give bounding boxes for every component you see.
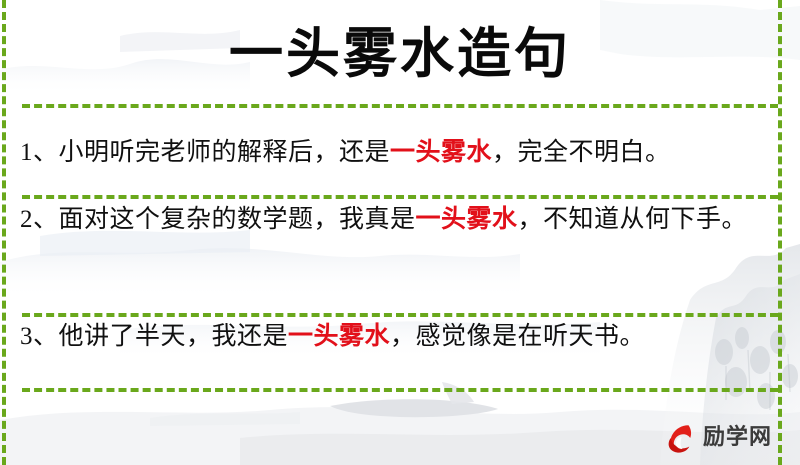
separator-below-title (22, 104, 778, 108)
sentence-text-before: 他讲了半天，我还是 (59, 323, 289, 350)
list-item: 1、小明听完老师的解释后，还是一头雾水，完全不明白。 (18, 130, 778, 175)
flame-swirl-icon (663, 421, 697, 455)
page-title: 一头雾水造句 (0, 18, 800, 88)
idiom-highlight: 一头雾水 (288, 323, 390, 350)
sentence-text-before: 面对这个复杂的数学题，我真是 (59, 206, 416, 233)
sentence-text-after: ，完全不明白。 (492, 139, 671, 166)
sentence-index: 3、 (20, 323, 59, 350)
sentence-index: 2、 (20, 206, 59, 233)
separator-after-sentence-3 (22, 388, 778, 392)
list-item: 3、他讲了半天，我还是一头雾水，感觉像是在听天书。 (18, 314, 778, 359)
sentence-text-after: ，不知道从何下手。 (518, 206, 748, 233)
watermark-label: 励学网 (703, 421, 772, 455)
idiom-highlight: 一头雾水 (416, 206, 518, 233)
frame-border-left (2, 0, 6, 465)
sentence-text-after: ，感觉像是在听天书。 (390, 323, 645, 350)
idiom-highlight: 一头雾水 (390, 139, 492, 166)
sentence-text-before: 小明听完老师的解释后，还是 (59, 139, 391, 166)
list-item: 2、面对这个复杂的数学题，我真是一头雾水，不知道从何下手。 (18, 197, 778, 242)
frame-border-right (778, 0, 782, 465)
poster-canvas: 一头雾水造句 1、小明听完老师的解释后，还是一头雾水，完全不明白。 2、面对这个… (0, 0, 800, 465)
sentence-index: 1、 (20, 139, 59, 166)
site-watermark: 励学网 (663, 418, 775, 458)
